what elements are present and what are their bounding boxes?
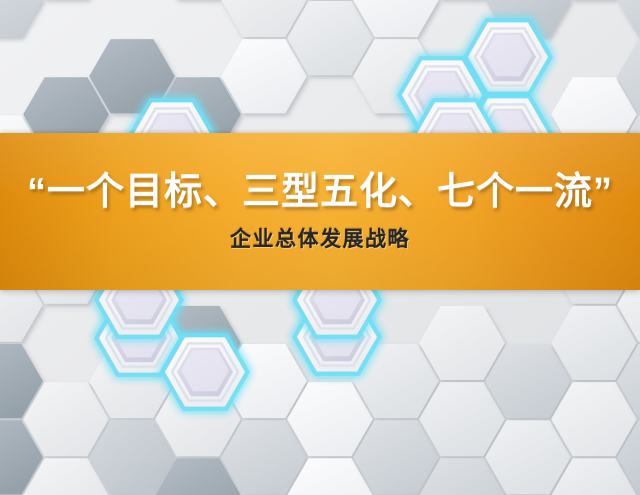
- presentation-slide: “一个目标、三型五化、七个一流” 企业总体发展战略: [0, 0, 640, 495]
- slide-title: “一个目标、三型五化、七个一流”: [27, 172, 613, 214]
- slide-subtitle: 企业总体发展战略: [230, 228, 410, 251]
- title-banner: “一个目标、三型五化、七个一流” 企业总体发展战略: [0, 133, 640, 290]
- glowing-hexagon: [163, 336, 247, 409]
